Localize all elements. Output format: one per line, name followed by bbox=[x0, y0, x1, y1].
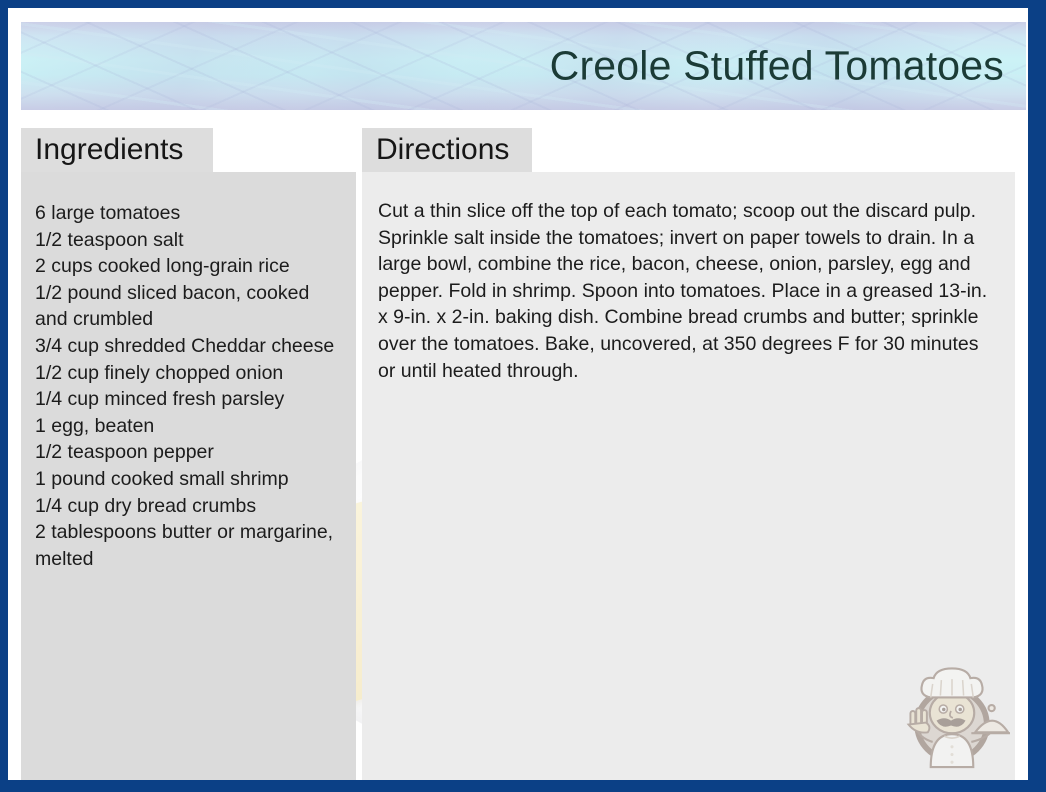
page-title: Creole Stuffed Tomatoes bbox=[550, 43, 1004, 90]
recipe-slide: Creole Stuffed Tomatoes Ingredients 6 la… bbox=[8, 8, 1028, 780]
ingredients-list: 6 large tomatoes 1/2 teaspoon salt 2 cup… bbox=[35, 200, 340, 572]
list-item: 1 pound cooked small shrimp bbox=[35, 466, 340, 493]
list-item: 2 tablespoons butter or margarine, melte… bbox=[35, 519, 340, 572]
title-banner: Creole Stuffed Tomatoes bbox=[21, 22, 1026, 110]
directions-text: Cut a thin slice off the top of each tom… bbox=[378, 198, 995, 384]
ingredients-panel: 6 large tomatoes 1/2 teaspoon salt 2 cup… bbox=[21, 172, 356, 780]
list-item: 1/4 cup minced fresh parsley bbox=[35, 386, 340, 413]
list-item: 1/2 pound sliced bacon, cooked and crumb… bbox=[35, 280, 340, 333]
list-item: 1 egg, beaten bbox=[35, 413, 340, 440]
list-item: 1/4 cup dry bread crumbs bbox=[35, 493, 340, 520]
list-item: 2 cups cooked long-grain rice bbox=[35, 253, 340, 280]
list-item: 1/2 teaspoon pepper bbox=[35, 439, 340, 466]
list-item: 6 large tomatoes bbox=[35, 200, 340, 227]
directions-panel: Cut a thin slice off the top of each tom… bbox=[362, 172, 1015, 780]
directions-heading: Directions bbox=[362, 128, 532, 172]
list-item: 3/4 cup shredded Cheddar cheese bbox=[35, 333, 340, 360]
ingredients-heading: Ingredients bbox=[21, 128, 213, 172]
list-item: 1/2 cup finely chopped onion bbox=[35, 360, 340, 387]
list-item: 1/2 teaspoon salt bbox=[35, 227, 340, 254]
